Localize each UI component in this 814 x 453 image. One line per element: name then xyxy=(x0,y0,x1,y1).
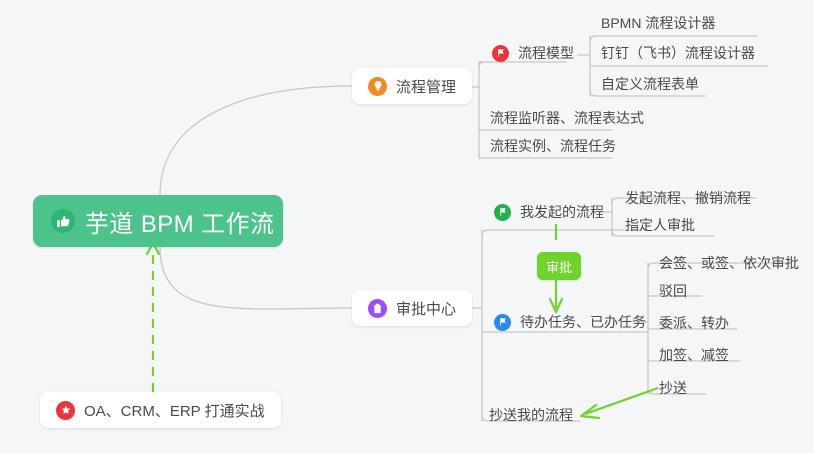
node-label-add-remove-sign: 加签、减签 xyxy=(659,345,729,365)
thumbs-up-icon xyxy=(51,209,75,233)
node-label-assignee-approval: 指定人审批 xyxy=(625,215,695,235)
clipboard-icon xyxy=(368,299,387,318)
node-my-initiated-process[interactable]: 我发起的流程 xyxy=(494,199,604,225)
root-node[interactable]: 芋道 BPM 工作流 xyxy=(33,195,283,247)
root-label: 芋道 BPM 工作流 xyxy=(85,204,274,239)
underline-my-initiated xyxy=(482,230,640,236)
approval-tag-label: 审批 xyxy=(546,257,572,276)
node-custom-process-form[interactable]: 自定义流程表单 xyxy=(601,71,699,97)
arrow-note-to-root xyxy=(147,243,159,392)
flag-icon xyxy=(492,45,509,62)
branch-node-approval-center[interactable]: 审批中心 xyxy=(352,290,472,326)
branch-node-process-management[interactable]: 流程管理 xyxy=(352,68,472,104)
branch-label-approval-center: 审批中心 xyxy=(396,298,456,319)
mindmap-canvas: 芋道 BPM 工作流 流程管理 流程模型 BPMN 流程设计器 钉钉（飞书）流程… xyxy=(0,0,814,453)
corner-pm-top xyxy=(479,62,485,68)
approval-tag[interactable]: 审批 xyxy=(537,252,581,280)
edge-root-to-process-management xyxy=(160,86,352,195)
node-process-listener-expression[interactable]: 流程监听器、流程表达式 xyxy=(490,105,644,131)
node-label-reject: 驳回 xyxy=(659,281,687,301)
star-icon xyxy=(56,401,75,420)
node-cc-to-me-process[interactable]: 抄送我的流程 xyxy=(489,402,573,428)
flag-icon xyxy=(494,204,511,221)
node-label-bpmn-designer: BPMN 流程设计器 xyxy=(601,13,715,33)
node-label-process-instance-task: 流程实例、流程任务 xyxy=(490,136,616,156)
node-todo-done-tasks[interactable]: 待办任务、已办任务 xyxy=(494,309,646,335)
node-label-todo-done-tasks: 待办任务、已办任务 xyxy=(520,312,646,332)
node-label-process-model: 流程模型 xyxy=(518,43,574,63)
node-label-dingtalk-feishu-designer: 钉钉（飞书）流程设计器 xyxy=(601,43,755,63)
node-label-countersign-orsign-sequential: 会签、或签、依次审批 xyxy=(659,253,799,273)
integration-note-node[interactable]: OA、CRM、ERP 打通实战 xyxy=(40,392,281,428)
node-label-cc-to-me-process: 抄送我的流程 xyxy=(489,405,573,425)
node-assignee-approval[interactable]: 指定人审批 xyxy=(625,212,695,238)
node-label-start-cancel-process: 发起流程、撤销流程 xyxy=(625,188,751,208)
arrow-cc-to-ccprocess xyxy=(581,388,658,418)
flag-icon xyxy=(494,314,511,331)
edge-root-to-approval-center xyxy=(160,247,352,309)
node-label-cc: 抄送 xyxy=(659,378,687,398)
lightbulb-icon xyxy=(368,77,387,96)
branch-label-process-management: 流程管理 xyxy=(396,76,456,97)
node-process-model[interactable]: 流程模型 xyxy=(492,40,574,66)
node-process-instance-task[interactable]: 流程实例、流程任务 xyxy=(490,133,616,159)
node-label-delegate-transfer: 委派、转办 xyxy=(659,313,729,333)
node-label-my-initiated-process: 我发起的流程 xyxy=(520,202,604,222)
node-add-remove-sign[interactable]: 加签、减签 xyxy=(659,342,729,368)
node-label-process-listener-expression: 流程监听器、流程表达式 xyxy=(490,108,644,128)
node-start-cancel-process[interactable]: 发起流程、撤销流程 xyxy=(625,185,751,211)
integration-note-label: OA、CRM、ERP 打通实战 xyxy=(84,400,265,421)
node-reject[interactable]: 驳回 xyxy=(659,278,687,304)
node-countersign-orsign-sequential[interactable]: 会签、或签、依次审批 xyxy=(659,250,799,276)
node-dingtalk-feishu-designer[interactable]: 钉钉（飞书）流程设计器 xyxy=(601,40,755,66)
node-cc[interactable]: 抄送 xyxy=(659,375,687,401)
node-label-custom-process-form: 自定义流程表单 xyxy=(601,74,699,94)
node-bpmn-designer[interactable]: BPMN 流程设计器 xyxy=(601,10,715,36)
node-delegate-transfer[interactable]: 委派、转办 xyxy=(659,310,729,336)
